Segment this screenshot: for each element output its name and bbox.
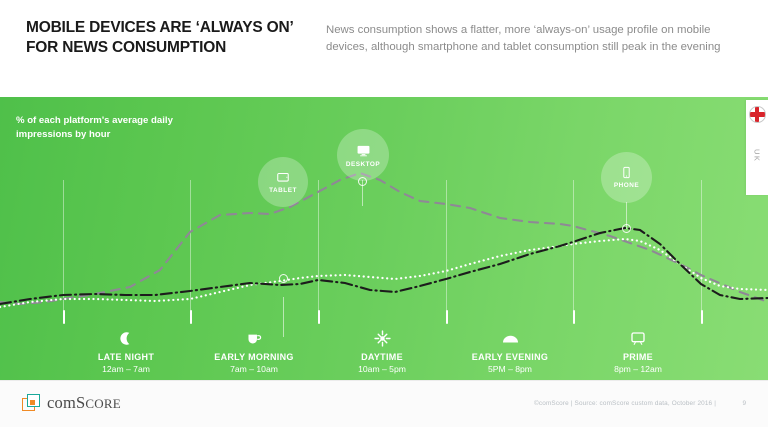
- comscore-logo: comSCORE: [22, 393, 121, 413]
- badge-desktop[interactable]: DESKTOP: [337, 129, 389, 181]
- region-tab-uk[interactable]: UK: [746, 100, 768, 195]
- tablet-icon: [276, 170, 290, 184]
- chart-panel: % of each platform's average daily impre…: [0, 97, 768, 380]
- page-subtitle: News consumption shows a flatter, more ‘…: [326, 22, 726, 55]
- badge-tablet[interactable]: TABLET: [258, 157, 308, 207]
- footer-source-text: ©comScore | Source: comScore custom data…: [534, 400, 716, 407]
- axis-tick: [63, 310, 65, 324]
- axis-tick: [318, 310, 320, 324]
- page-footer: comSCORE ©comScore | Source: comScore cu…: [0, 380, 768, 427]
- axis-tick: [446, 310, 448, 324]
- logo-square-inner: [30, 400, 35, 405]
- category-prime: PRIME 8pm – 12am: [563, 327, 713, 376]
- tv-icon: [563, 327, 713, 349]
- category-time: 8pm – 12am: [563, 364, 713, 376]
- logo-text-core: CORE: [85, 396, 120, 411]
- badge-anchor-tablet: [279, 274, 288, 283]
- category-label: PRIME: [563, 352, 713, 363]
- uk-flag-icon: [749, 106, 766, 123]
- phone-icon: [620, 166, 633, 179]
- axis-tick: [573, 310, 575, 324]
- desktop-icon: [356, 143, 371, 158]
- logo-text-s: S: [76, 393, 85, 412]
- series-line-tablet: [0, 239, 768, 307]
- axis-tick: [701, 310, 703, 324]
- badge-anchor-phone: [622, 224, 631, 233]
- comscore-logo-mark: [22, 394, 41, 413]
- badge-label-phone: PHONE: [614, 182, 639, 189]
- region-tab-label: UK: [753, 149, 762, 162]
- series-line-phone: [0, 228, 768, 304]
- page-header: MOBILE DEVICES ARE ‘ALWAYS ON’ FOR NEWS …: [0, 0, 768, 97]
- footer-page-number: 9: [742, 400, 746, 407]
- page-title: MOBILE DEVICES ARE ‘ALWAYS ON’ FOR NEWS …: [26, 18, 316, 59]
- badge-phone[interactable]: PHONE: [601, 152, 652, 203]
- badge-label-tablet: TABLET: [269, 187, 297, 194]
- axis-tick: [190, 310, 192, 324]
- badge-label-desktop: DESKTOP: [346, 161, 380, 168]
- logo-text-com: com: [47, 393, 76, 412]
- comscore-logo-text: comSCORE: [47, 393, 121, 413]
